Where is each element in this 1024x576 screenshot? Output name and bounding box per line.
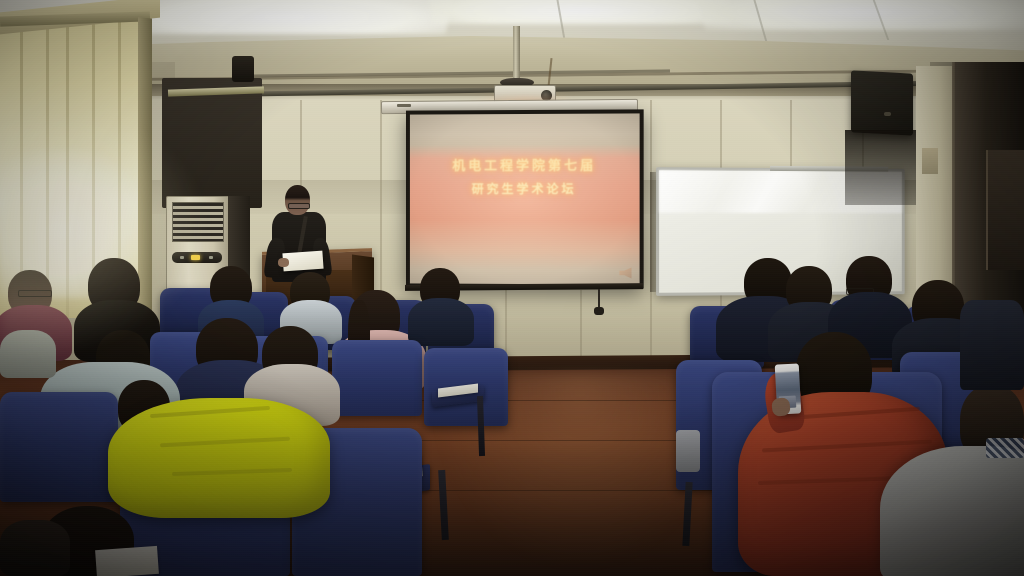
photo-grain <box>0 0 1024 576</box>
lecture-hall-photo: 机电工程学院第七届 研究生学术论坛 <box>0 0 1024 576</box>
